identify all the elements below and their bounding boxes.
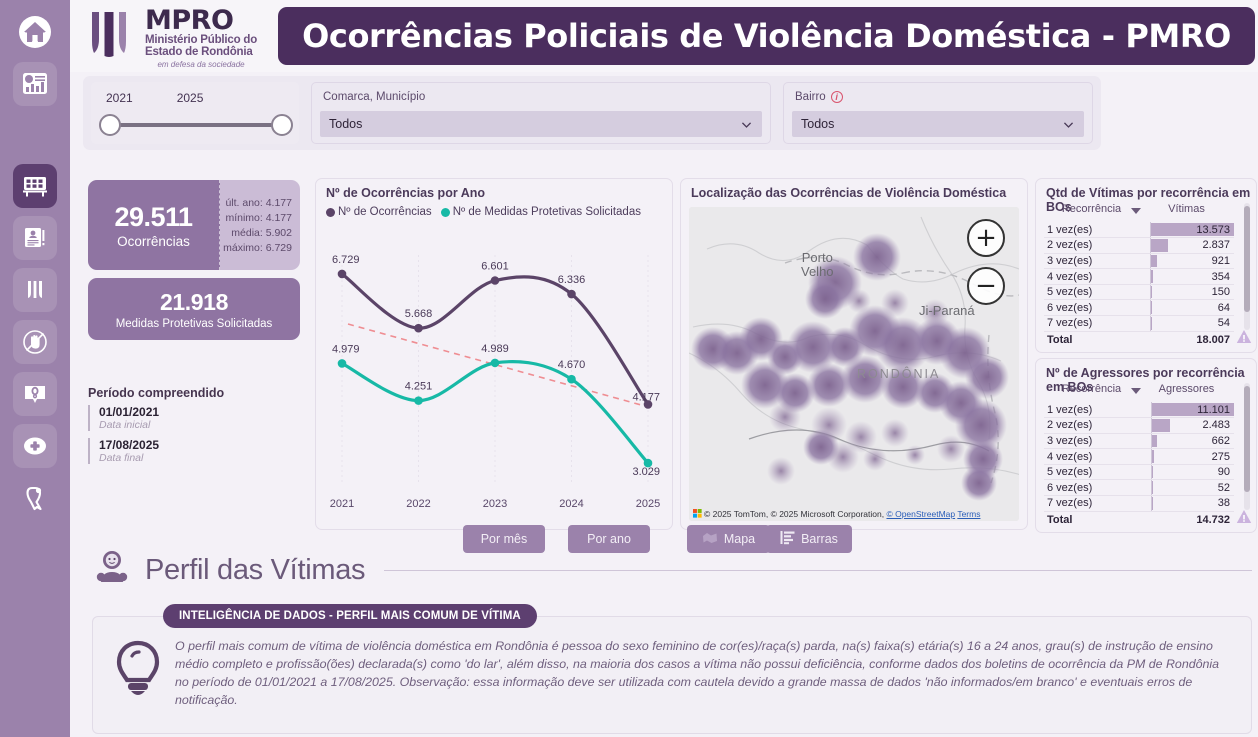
victims-table-header: Recorrência Vítimas bbox=[1044, 203, 1234, 220]
row-bar bbox=[1152, 435, 1157, 448]
row-value: 38 bbox=[1218, 497, 1230, 509]
chart-data-label: 6.336 bbox=[558, 274, 586, 286]
stop-hand-icon bbox=[21, 328, 49, 356]
period-end: 17/08/2025 Data final bbox=[88, 438, 300, 464]
row-bar bbox=[1151, 239, 1168, 252]
table-row[interactable]: 2 vez(es)2.837 bbox=[1044, 238, 1234, 254]
year-min-label: 2021 bbox=[106, 91, 133, 105]
aggressors-col-agressores[interactable]: Agressores bbox=[1139, 383, 1234, 400]
sort-desc-icon bbox=[1131, 208, 1141, 214]
row-label: 4 vez(es) bbox=[1044, 449, 1151, 465]
victims-table[interactable]: 1 vez(es)13.5732 vez(es)2.8373 vez(es)92… bbox=[1044, 222, 1234, 347]
microsoft-logo-icon bbox=[693, 509, 702, 518]
aggressors-table-header: Recorrência Agressores bbox=[1044, 383, 1234, 400]
warning-triangle-icon[interactable] bbox=[1236, 509, 1252, 529]
chart-xtick: 2025 bbox=[636, 498, 660, 510]
victim-profile-info-card: O perfil mais comum de vítima de violênc… bbox=[92, 616, 1252, 734]
year-slider-track[interactable] bbox=[116, 123, 276, 127]
comarca-filter: Comarca, Município Todos bbox=[311, 82, 771, 144]
chart-xtick: 2022 bbox=[406, 498, 430, 510]
grid-panels-icon bbox=[21, 172, 49, 200]
aggressors-col-recorrencia[interactable]: Recorrência bbox=[1044, 383, 1139, 400]
aggressors-table-scrollbar[interactable] bbox=[1244, 383, 1250, 510]
legend-item-ocorrencias[interactable]: Nº de Ocorrências bbox=[326, 206, 432, 218]
period-block: Período compreendido 01/01/2021 Data ini… bbox=[88, 386, 300, 471]
row-label: 3 vez(es) bbox=[1044, 433, 1151, 449]
speech-zero-icon bbox=[21, 380, 49, 408]
victims-col-vitimas[interactable]: Vítimas bbox=[1139, 203, 1234, 220]
chart-data-label: 5.668 bbox=[405, 308, 433, 320]
mpro-logo: MPRO Ministério Público do Estado de Ron… bbox=[82, 6, 257, 69]
row-value-cell: 54 bbox=[1151, 316, 1234, 332]
chevron-down-icon bbox=[1062, 118, 1075, 131]
total-value-cell: 14.732 bbox=[1151, 511, 1234, 527]
occurrences-by-year-panel: Nº de Ocorrências por Ano Nº de Ocorrênc… bbox=[315, 178, 673, 530]
info-circle-icon[interactable]: i bbox=[831, 91, 843, 103]
row-value: 52 bbox=[1218, 482, 1230, 494]
mpro-shield-logo-icon bbox=[82, 6, 136, 69]
awareness-ribbon-icon bbox=[21, 484, 49, 512]
year-max-label: 2025 bbox=[177, 91, 204, 105]
victim-profile-text: O perfil mais comum de vítima de violênc… bbox=[175, 638, 1233, 710]
dashboard-chart-icon bbox=[21, 70, 49, 98]
kpi-occurrences-value: 29.511 bbox=[114, 202, 192, 233]
row-label: 2 vez(es) bbox=[1044, 418, 1151, 434]
comarca-select[interactable]: Todos bbox=[320, 111, 762, 137]
row-label: 1 vez(es) bbox=[1044, 402, 1151, 418]
kpi-measures-card: 21.918 Medidas Protetivas Solicitadas bbox=[88, 278, 300, 340]
row-value-cell: 662 bbox=[1151, 433, 1234, 449]
table-row[interactable]: 7 vez(es)38 bbox=[1044, 496, 1234, 512]
home-icon bbox=[18, 15, 52, 49]
map-attribution-text: © 2025 TomTom, © 2025 Microsoft Corporat… bbox=[704, 509, 884, 519]
total-label: Total bbox=[1044, 331, 1151, 347]
lightbulb-icon bbox=[115, 639, 161, 706]
row-value: 2.837 bbox=[1202, 239, 1230, 251]
kpi-occurrences-card: 29.511 Ocorrências últ. ano: 4.177 mínim… bbox=[88, 180, 300, 270]
victims-col-recorrencia[interactable]: Recorrência bbox=[1044, 203, 1139, 220]
aggressors-recurrence-panel: Nº de Agressores por recorrência em BOs … bbox=[1035, 358, 1257, 533]
sidebar-item-relatorios[interactable] bbox=[13, 216, 57, 260]
legend-label-ocorrencias: Nº de Ocorrências bbox=[338, 206, 432, 218]
chart-line-ocorrencias bbox=[342, 274, 648, 404]
sidebar-item-indicadores[interactable] bbox=[13, 372, 57, 416]
chart-data-label: 4.177 bbox=[632, 391, 660, 403]
row-label: 5 vez(es) bbox=[1044, 464, 1151, 480]
title-banner: Ocorrências Policiais de Violência Domés… bbox=[278, 7, 1255, 65]
victims-recurrence-panel: Qtd de Vítimas por recorrência em BOs Re… bbox=[1035, 178, 1257, 353]
warning-triangle-icon[interactable] bbox=[1236, 329, 1252, 349]
row-label: 7 vez(es) bbox=[1044, 316, 1151, 332]
table-row[interactable]: 3 vez(es)921 bbox=[1044, 253, 1234, 269]
table-row[interactable]: 6 vez(es)64 bbox=[1044, 300, 1234, 316]
table-row[interactable]: 5 vez(es)90 bbox=[1044, 464, 1234, 480]
year-range-filter[interactable]: 2021 2025 bbox=[91, 82, 299, 144]
bairro-select[interactable]: Todos bbox=[792, 111, 1084, 137]
row-value: 354 bbox=[1212, 271, 1230, 283]
row-label: 6 vez(es) bbox=[1044, 300, 1151, 316]
sort-desc-icon bbox=[1131, 388, 1141, 394]
perfil-divider bbox=[384, 570, 1252, 571]
kpi-stat-min: mínimo: 4.177 bbox=[225, 212, 292, 224]
legend-label-medidas: Nº de Medidas Protetivas Solicitadas bbox=[453, 206, 641, 218]
table-row[interactable]: 6 vez(es)52 bbox=[1044, 480, 1234, 496]
row-value: 90 bbox=[1218, 466, 1230, 478]
table-row[interactable]: 4 vez(es)275 bbox=[1044, 449, 1234, 465]
chart-point[interactable] bbox=[567, 290, 576, 299]
logo-wordmark: MPRO bbox=[145, 7, 257, 34]
period-end-value: 17/08/2025 bbox=[99, 438, 300, 452]
chart-point[interactable] bbox=[491, 276, 500, 285]
row-value-cell: 52 bbox=[1151, 480, 1234, 496]
kpi-measures-caption: Medidas Protetivas Solicitadas bbox=[116, 318, 273, 330]
barras-button-label: Barras bbox=[801, 532, 838, 546]
map-terms-link[interactable]: Terms bbox=[957, 509, 980, 519]
sidebar-item-mpro[interactable] bbox=[13, 268, 57, 312]
sidebar-item-home[interactable] bbox=[13, 10, 57, 54]
bairro-label: Bairroi bbox=[795, 91, 843, 103]
map-zoom-in-button[interactable]: + bbox=[967, 219, 1005, 257]
kpi-stat-last-year: últ. ano: 4.177 bbox=[225, 197, 292, 209]
row-value: 150 bbox=[1212, 286, 1230, 298]
victims-col-vitimas-label: Vítimas bbox=[1168, 203, 1205, 215]
row-label: 1 vez(es) bbox=[1044, 222, 1151, 238]
page-header: MPRO Ministério Público do Estado de Ron… bbox=[70, 0, 1258, 72]
row-value-cell: 275 bbox=[1151, 449, 1234, 465]
table-row[interactable]: 1 vez(es)11.101 bbox=[1044, 402, 1234, 418]
row-value-cell: 13.573 bbox=[1151, 222, 1234, 238]
sidebar-item-campanhas[interactable] bbox=[13, 476, 57, 520]
map-title: Localização das Ocorrências de Violência… bbox=[691, 186, 1006, 200]
table-total-row: Total18.007 bbox=[1044, 331, 1234, 347]
period-end-label: Data final bbox=[99, 452, 300, 464]
row-label: 7 vez(es) bbox=[1044, 496, 1151, 512]
row-value-cell: 2.483 bbox=[1151, 418, 1234, 434]
sidebar-item-dashboard[interactable] bbox=[13, 62, 57, 106]
chart-data-label: 6.729 bbox=[332, 254, 360, 266]
chart-xtick: 2021 bbox=[330, 498, 354, 510]
chart-legend: Nº de Ocorrências Nº de Medidas Protetiv… bbox=[326, 206, 641, 218]
chart-point[interactable] bbox=[338, 359, 347, 368]
map-zoom-out-button[interactable]: − bbox=[967, 267, 1005, 305]
map-pin-icon bbox=[702, 530, 718, 548]
table-row[interactable]: 1 vez(es)13.573 bbox=[1044, 222, 1234, 238]
chart-data-label: 3.029 bbox=[632, 466, 660, 478]
chart-xtick: 2024 bbox=[559, 498, 583, 510]
row-value: 64 bbox=[1218, 302, 1230, 314]
row-value: 11.101 bbox=[1197, 404, 1230, 416]
page-title: Ocorrências Policiais de Violência Domés… bbox=[302, 17, 1231, 55]
chart-point[interactable] bbox=[491, 359, 500, 368]
row-value-cell: 921 bbox=[1151, 253, 1234, 269]
sidebar-item-saude[interactable] bbox=[13, 424, 57, 468]
aggressors-col-agressores-label: Agressores bbox=[1159, 383, 1215, 395]
map-canvas[interactable]: PortoVelho Ji-Paraná RONDÔNIA + − © 2025… bbox=[689, 207, 1019, 521]
kpi-occurrences-stats: últ. ano: 4.177 mínimo: 4.177 média: 5.9… bbox=[220, 180, 300, 270]
victim-profile-icon bbox=[92, 548, 132, 593]
sidebar-item-violencia[interactable] bbox=[13, 320, 57, 364]
chart-data-label: 4.979 bbox=[332, 343, 360, 355]
row-value-cell: 64 bbox=[1151, 300, 1234, 316]
legend-swatch-medidas bbox=[441, 208, 450, 217]
row-value: 54 bbox=[1218, 317, 1230, 329]
table-row[interactable]: 4 vez(es)354 bbox=[1044, 269, 1234, 285]
period-start-label: Data inicial bbox=[99, 419, 300, 431]
table-row[interactable]: 5 vez(es)150 bbox=[1044, 284, 1234, 300]
row-value: 921 bbox=[1212, 255, 1230, 267]
legend-swatch-ocorrencias bbox=[326, 208, 335, 217]
logo-line-2: Estado de Rondônia bbox=[145, 47, 257, 59]
map-attribution: © 2025 TomTom, © 2025 Microsoft Corporat… bbox=[693, 509, 980, 519]
row-value-cell: 2.837 bbox=[1151, 238, 1234, 254]
openstreetmap-link[interactable]: © OpenStreetMap bbox=[886, 509, 955, 519]
chart-data-label: 4.989 bbox=[481, 343, 509, 355]
line-chart-svg[interactable]: 6.7295.6686.6016.3364.1774.9794.2514.989… bbox=[320, 227, 670, 519]
period-start-value: 01/01/2021 bbox=[99, 405, 300, 419]
filter-bar: 2021 2025 Comarca, Município Todos Bairr… bbox=[83, 76, 1101, 150]
row-value: 275 bbox=[1212, 451, 1230, 463]
perfil-heading: Perfil das Vítimas bbox=[145, 554, 365, 587]
row-value-cell: 150 bbox=[1151, 284, 1234, 300]
table-row[interactable]: 3 vez(es)662 bbox=[1044, 433, 1234, 449]
row-bar bbox=[1152, 466, 1153, 479]
left-sidebar bbox=[0, 0, 70, 737]
intelligence-badge: INTELIGÊNCIA DE DADOS - PERFIL MAIS COMU… bbox=[163, 604, 537, 628]
mapa-button-label: Mapa bbox=[724, 532, 755, 546]
table-total-row: Total14.732 bbox=[1044, 511, 1234, 527]
report-document-icon bbox=[21, 224, 49, 252]
total-value-cell: 18.007 bbox=[1151, 331, 1234, 347]
aggressors-table[interactable]: 1 vez(es)11.1012 vez(es)2.4833 vez(es)66… bbox=[1044, 402, 1234, 527]
total-value: 14.732 bbox=[1196, 514, 1230, 526]
chart-point[interactable] bbox=[338, 270, 347, 279]
row-bar bbox=[1152, 450, 1154, 463]
row-value: 13.573 bbox=[1196, 224, 1230, 236]
row-label: 2 vez(es) bbox=[1044, 238, 1151, 254]
comarca-label: Comarca, Município bbox=[323, 91, 425, 103]
chevron-down-icon bbox=[740, 118, 753, 131]
sidebar-item-ocorrencias[interactable] bbox=[13, 164, 57, 208]
bar-chart-icon bbox=[780, 530, 795, 548]
row-value: 662 bbox=[1212, 435, 1230, 447]
row-value-cell: 354 bbox=[1151, 269, 1234, 285]
row-value-cell: 11.101 bbox=[1151, 402, 1234, 418]
logo-slogan: em defesa da sociedade bbox=[145, 61, 257, 69]
map-panel: Localização das Ocorrências de Violência… bbox=[680, 178, 1028, 530]
bairro-filter: Bairroi Todos bbox=[783, 82, 1093, 144]
row-label: 4 vez(es) bbox=[1044, 269, 1151, 285]
victims-table-scrollbar[interactable] bbox=[1244, 203, 1250, 330]
row-bar bbox=[1151, 286, 1152, 299]
chart-data-label: 4.670 bbox=[558, 359, 586, 371]
period-start: 01/01/2021 Data inicial bbox=[88, 405, 300, 431]
kpi-occurrences-main: 29.511 Ocorrências bbox=[88, 180, 220, 270]
chart-xtick: 2023 bbox=[483, 498, 507, 510]
chart-title: Nº de Ocorrências por Ano bbox=[326, 186, 485, 200]
table-row[interactable]: 7 vez(es)54 bbox=[1044, 316, 1234, 332]
row-value: 2.483 bbox=[1202, 419, 1230, 431]
bairro-value: Todos bbox=[801, 117, 834, 131]
row-label: 6 vez(es) bbox=[1044, 480, 1151, 496]
period-title: Período compreendido bbox=[88, 386, 300, 400]
legend-item-medidas[interactable]: Nº de Medidas Protetivas Solicitadas bbox=[441, 206, 641, 218]
kpi-stat-avg: média: 5.902 bbox=[231, 227, 292, 239]
chart-point[interactable] bbox=[414, 396, 423, 405]
perfil-header: Perfil das Vítimas bbox=[92, 548, 1252, 593]
row-bar bbox=[1152, 419, 1170, 432]
row-label: 3 vez(es) bbox=[1044, 253, 1151, 269]
chart-point[interactable] bbox=[567, 375, 576, 384]
year-range-labels: 2021 2025 bbox=[106, 91, 203, 105]
chart-point[interactable] bbox=[414, 324, 423, 333]
total-value: 18.007 bbox=[1196, 334, 1230, 346]
map-graphic bbox=[689, 207, 1019, 521]
chart-data-label: 6.601 bbox=[481, 261, 509, 273]
total-label: Total bbox=[1044, 511, 1151, 527]
year-slider-handle-right[interactable] bbox=[271, 114, 293, 136]
logo-line-1: Ministério Público do bbox=[145, 35, 257, 47]
row-bar bbox=[1151, 255, 1157, 268]
kpi-stat-max: máximo: 6.729 bbox=[223, 242, 292, 254]
year-slider-handle-left[interactable] bbox=[99, 114, 121, 136]
row-value-cell: 90 bbox=[1151, 464, 1234, 480]
bairro-label-text: Bairro bbox=[795, 91, 826, 103]
table-row[interactable]: 2 vez(es)2.483 bbox=[1044, 418, 1234, 434]
chart-data-label: 4.251 bbox=[405, 381, 433, 393]
kpi-occurrences-caption: Ocorrências bbox=[117, 234, 190, 249]
row-label: 5 vez(es) bbox=[1044, 284, 1151, 300]
mpro-shield-icon bbox=[21, 276, 49, 304]
dashboard-root: MPRO Ministério Público do Estado de Ron… bbox=[0, 0, 1258, 737]
kpi-measures-value: 21.918 bbox=[160, 289, 228, 316]
medical-cross-icon bbox=[21, 432, 49, 460]
comarca-value: Todos bbox=[329, 117, 362, 131]
row-value-cell: 38 bbox=[1151, 496, 1234, 512]
row-bar bbox=[1151, 270, 1153, 283]
